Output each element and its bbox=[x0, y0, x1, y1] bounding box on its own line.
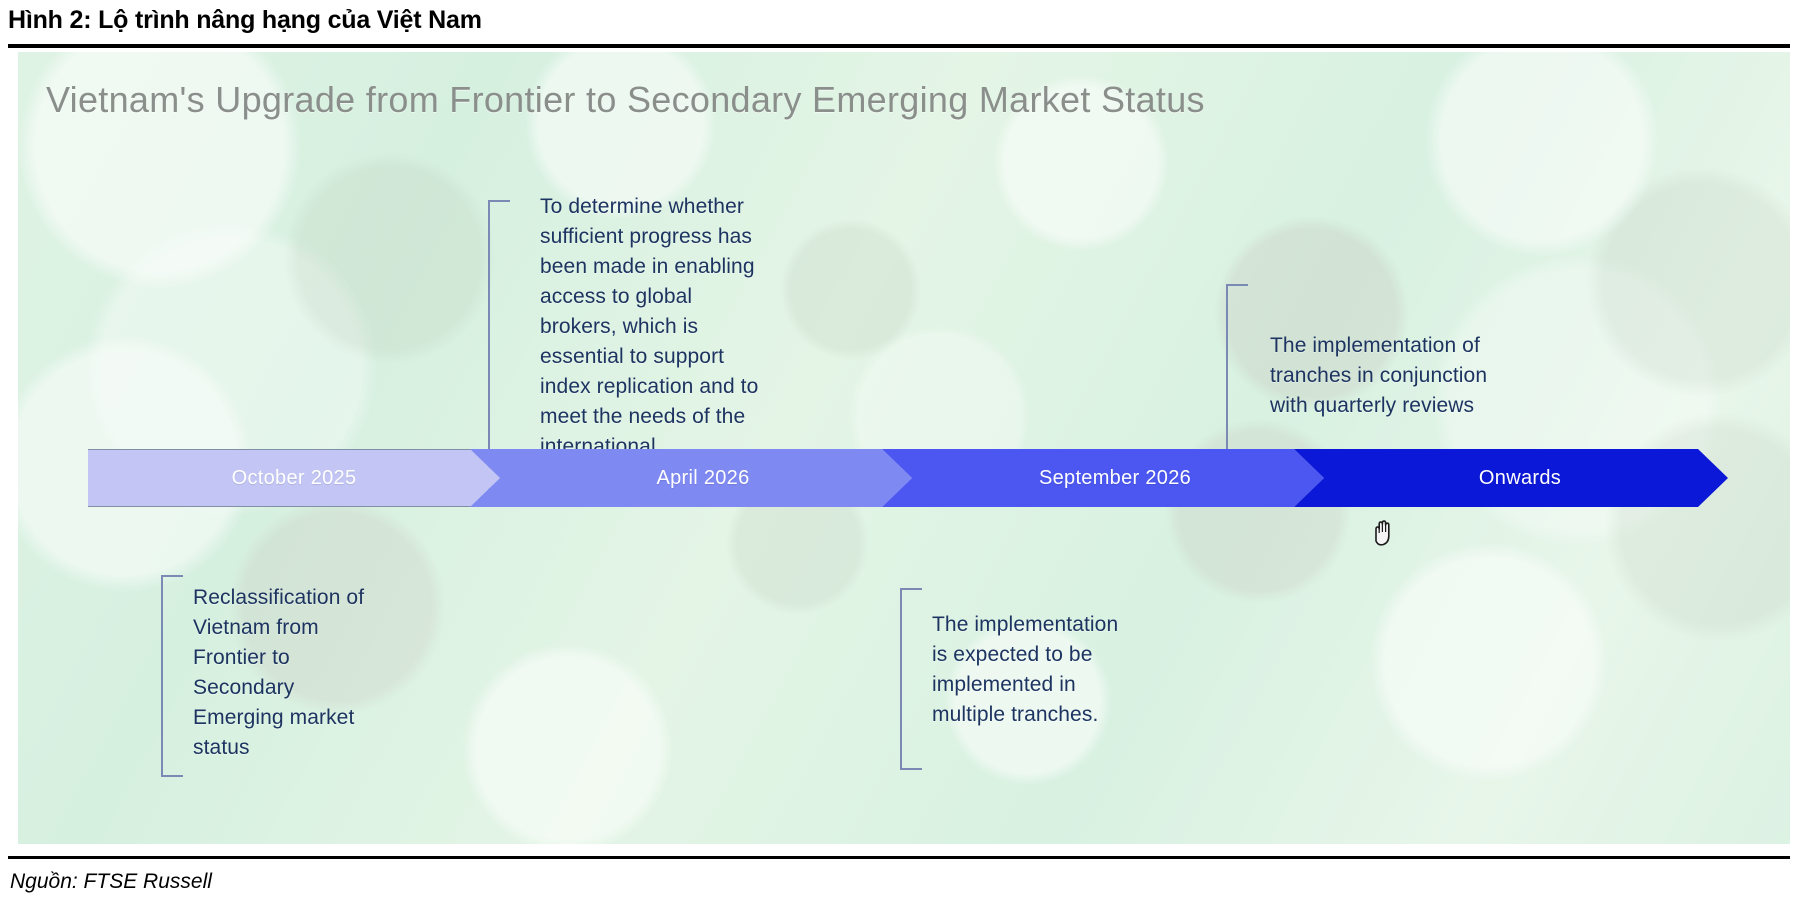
bracket-icon bbox=[161, 575, 183, 777]
callout-october-2025-text: Reclassification of Vietnam from Frontie… bbox=[193, 583, 481, 763]
callout-october-2025: Reclassification of Vietnam from Frontie… bbox=[161, 569, 481, 763]
timeline-image-panel: Vietnam's Upgrade from Frontier to Secon… bbox=[18, 52, 1790, 844]
timeline-bar: October 2025 April 2026 September 2026 O… bbox=[88, 449, 1728, 507]
callout-september-2026-text: The implementation is expected to be imp… bbox=[932, 610, 1220, 730]
timeline-stage-label: Onwards bbox=[1479, 467, 1561, 490]
callout-onwards-text: The implementation of tranches in conjun… bbox=[1270, 331, 1556, 421]
panel-title: Vietnam's Upgrade from Frontier to Secon… bbox=[46, 79, 1205, 121]
timeline-stage-label: October 2025 bbox=[232, 467, 357, 490]
timeline-stage-label: September 2026 bbox=[1039, 467, 1191, 490]
callout-april-2026-text: To determine whether sufficient progress… bbox=[540, 192, 818, 492]
timeline-stage-september-2026[interactable]: September 2026 bbox=[882, 449, 1324, 507]
grab-hand-cursor-icon bbox=[1370, 518, 1396, 548]
callout-september-2026: The implementation is expected to be imp… bbox=[900, 582, 1220, 730]
footer-divider bbox=[8, 856, 1790, 859]
callout-april-2026: To determine whether sufficient progress… bbox=[488, 192, 818, 492]
caption-divider bbox=[8, 44, 1790, 48]
callout-onwards: The implementation of tranches in conjun… bbox=[1226, 279, 1556, 421]
timeline-stage-october-2025[interactable]: October 2025 bbox=[88, 449, 500, 507]
timeline-stage-label: April 2026 bbox=[656, 467, 749, 490]
timeline-stage-onwards[interactable]: Onwards bbox=[1294, 449, 1728, 507]
timeline-stage-april-2026[interactable]: April 2026 bbox=[470, 449, 912, 507]
bracket-icon bbox=[900, 588, 922, 770]
figure-caption: Hình 2: Lộ trình nâng hạng của Việt Nam bbox=[8, 6, 482, 35]
source-note: Nguồn: FTSE Russell bbox=[10, 870, 212, 894]
figure-container: Hình 2: Lộ trình nâng hạng của Việt Nam … bbox=[0, 0, 1794, 916]
